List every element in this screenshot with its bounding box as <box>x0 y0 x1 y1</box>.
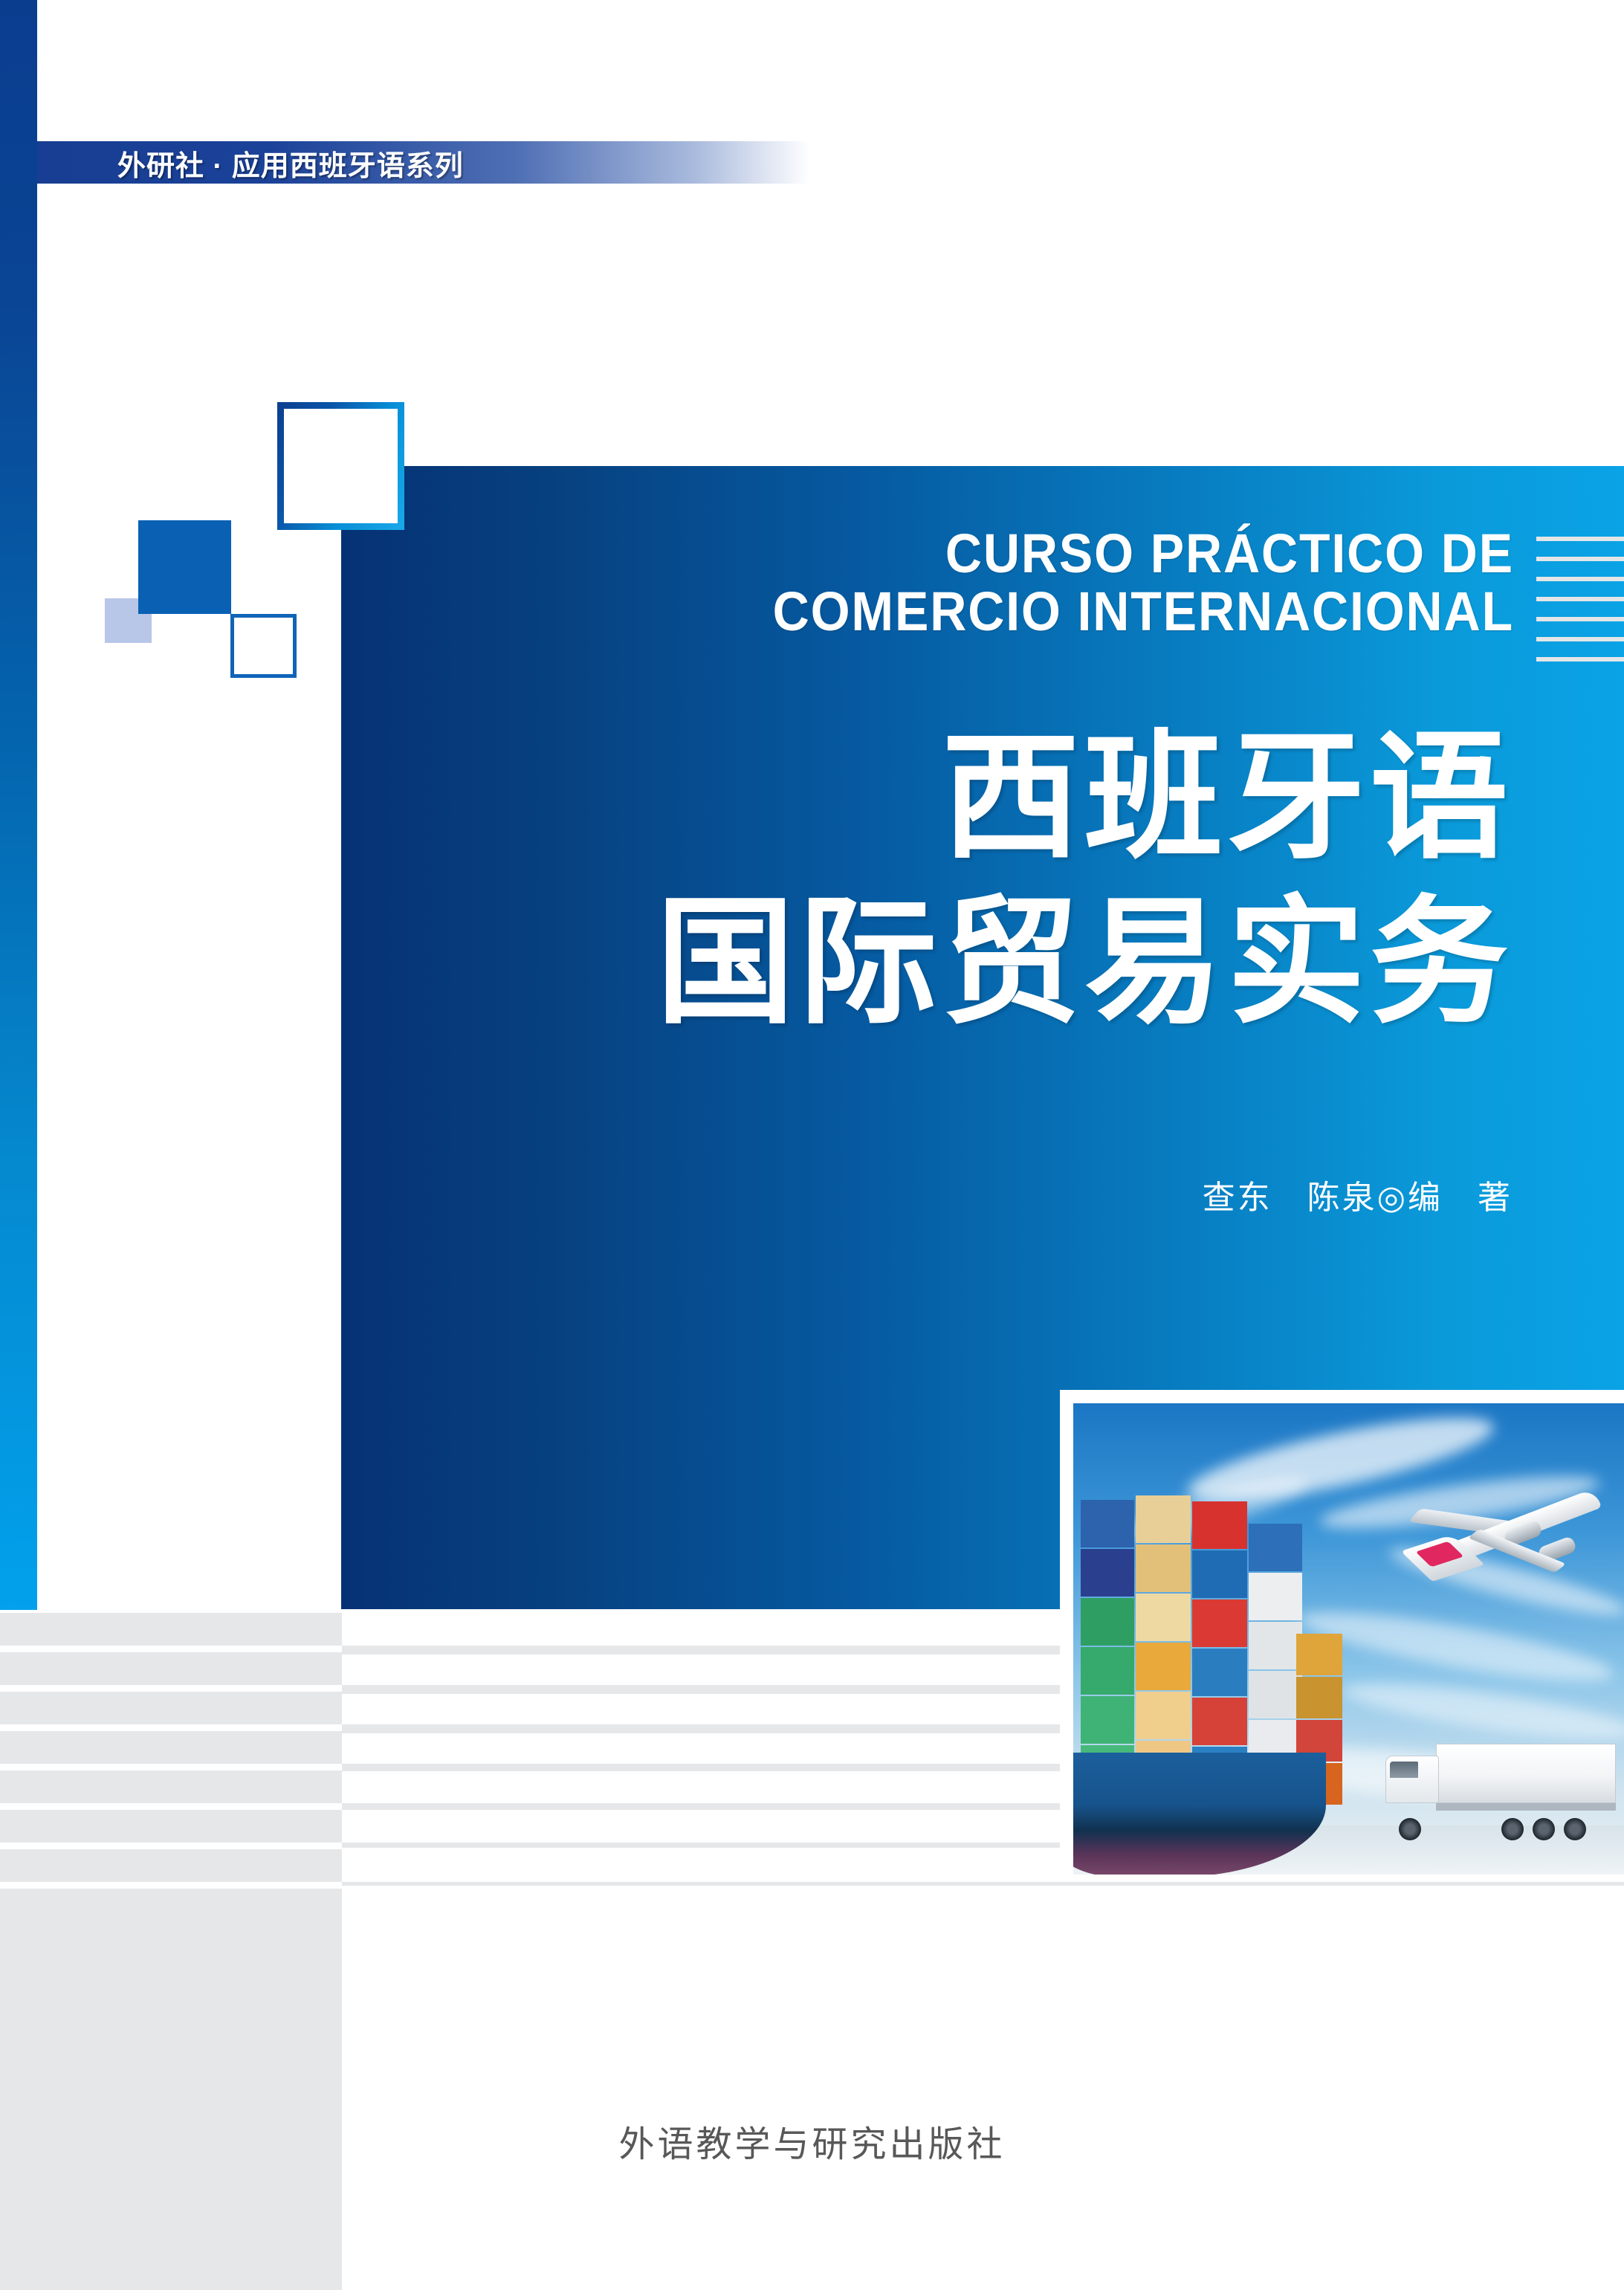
airplane-icon <box>1393 1461 1616 1610</box>
rule-line-5 <box>1536 617 1624 621</box>
rule-line-4 <box>1536 597 1624 601</box>
left-gradient-bar <box>0 0 37 1610</box>
shipping-containers-stack <box>1073 1455 1304 1775</box>
stripe-left-band <box>0 1849 342 1882</box>
stripe-left-band <box>0 1770 342 1803</box>
stripe-left-band <box>0 1731 342 1764</box>
cover-photo-logistics-image <box>1073 1403 1624 1875</box>
stripe-left-band <box>0 1613 342 1646</box>
stripe-left-band <box>0 1692 342 1724</box>
spanish-title: CURSO PRÁCTICO DE COMERCIO INTERNACIONAL <box>447 525 1514 641</box>
rule-line-3 <box>1536 577 1624 581</box>
truck-wheel <box>1501 1818 1524 1840</box>
rule-line-2 <box>1536 557 1624 561</box>
author-line: 查东 陈泉◎编 著 <box>844 1171 1513 1218</box>
book-title: 西班牙语 国际贸易实务 <box>398 715 1513 1045</box>
book-title-line-2: 国际贸易实务 <box>398 880 1513 1045</box>
decor-square-outline-large <box>277 402 404 530</box>
decor-rule-lines <box>1536 537 1624 663</box>
decor-square-outline-small <box>230 614 297 678</box>
truck-wheel <box>1564 1818 1586 1840</box>
truck-trailer <box>1436 1744 1616 1803</box>
stripe-left-solid <box>0 1889 342 2290</box>
stripe-right-rule <box>342 1882 1624 1886</box>
rule-line-7 <box>1536 657 1624 662</box>
stripe-left-band <box>0 1810 342 1843</box>
spanish-title-line-1: CURSO PRÁCTICO DE <box>447 525 1514 583</box>
cargo-truck-icon <box>1371 1739 1616 1843</box>
book-title-line-1: 西班牙语 <box>398 715 1513 880</box>
cover-photo-frame <box>1060 1390 1624 1875</box>
rule-line-6 <box>1536 637 1624 641</box>
truck-chassis <box>1436 1803 1616 1811</box>
truck-wheel <box>1399 1818 1421 1840</box>
truck-windshield <box>1390 1762 1418 1778</box>
decor-square-filled-medium <box>138 520 231 614</box>
spanish-title-line-2: COMERCIO INTERNACIONAL <box>447 583 1514 641</box>
truck-wheel <box>1533 1818 1555 1840</box>
stripe-left-band <box>0 1652 342 1685</box>
cloud-wisp-icon <box>1295 1599 1617 1694</box>
cloud-wisp-icon <box>1340 1672 1624 1749</box>
series-banner-label: 外研社 · 应用西班牙语系列 <box>117 143 464 184</box>
publisher-name: 外语教学与研究出版社 <box>0 2115 1624 2167</box>
rule-line-1 <box>1536 537 1624 541</box>
